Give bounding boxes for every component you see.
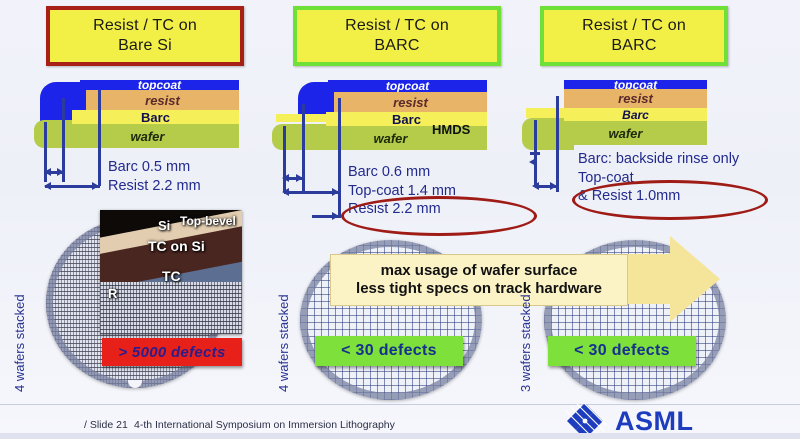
dimension-arrowhead-left bbox=[282, 174, 289, 182]
layer-label-wafer: wafer bbox=[131, 129, 165, 144]
sem-label-tc: TC bbox=[162, 268, 181, 284]
stack-label-column-2: 4 wafers stacked bbox=[276, 294, 291, 392]
hmds-label: HMDS bbox=[432, 122, 470, 137]
dimension-arrowhead-left bbox=[529, 158, 536, 166]
layer-label-wafer: wafer bbox=[374, 131, 408, 146]
dimension-arrowhead-right bbox=[332, 212, 339, 220]
defect-badge-label: < 30 defects bbox=[341, 342, 437, 360]
stack-label-column-1: 4 wafers stacked bbox=[12, 294, 27, 392]
defect-badge-column-3: < 30 defects bbox=[548, 336, 696, 366]
dimension-line-vertical bbox=[98, 90, 101, 186]
dimension-arrowhead-right bbox=[296, 174, 303, 182]
asml-wordmark: ASML bbox=[615, 406, 694, 437]
dimension-arrowhead-right bbox=[92, 182, 99, 190]
dimension-line-vertical bbox=[338, 98, 341, 218]
layer-resist: resist bbox=[334, 92, 487, 112]
title-line-2: Bare Si bbox=[93, 36, 197, 56]
sem-cross-section-inset: Si Top-bevel TC on Si TC R bbox=[100, 210, 242, 334]
arrow-head bbox=[670, 236, 720, 322]
layer-label-topcoat: topcoat bbox=[386, 79, 429, 93]
dimension-caption-column-3: Barc: backside rinse only Top-coat & Res… bbox=[578, 150, 739, 206]
layer-topcoat: topcoat bbox=[564, 80, 707, 89]
dimension-line-vertical bbox=[556, 96, 559, 192]
dimension-arrowhead-right bbox=[57, 168, 64, 176]
layer-topcoat: topcoat bbox=[328, 80, 487, 92]
dimension-arrow-small bbox=[530, 152, 540, 155]
dimension-arrowhead-right bbox=[332, 188, 339, 196]
layer-barc: Barc bbox=[564, 108, 707, 121]
defect-badge-column-2: < 30 defects bbox=[315, 336, 463, 366]
title-line-2: BARC bbox=[345, 36, 449, 56]
dimension-line-3: Resist 2.2 mm bbox=[348, 200, 456, 219]
layer-label-barc: Barc bbox=[392, 112, 421, 127]
title-box-column-1: Resist / TC on Bare Si bbox=[46, 6, 244, 66]
dimension-line-vertical bbox=[283, 126, 286, 192]
dimension-line-2: Top-coat bbox=[578, 169, 739, 188]
sem-label-tc-on-si: TC on Si bbox=[148, 238, 205, 254]
arrow-banner-text: max usage of wafer surface less tight sp… bbox=[330, 254, 628, 306]
title-line-2: BARC bbox=[582, 36, 686, 56]
dimension-arrowhead-left bbox=[44, 168, 51, 176]
layer-label-resist: resist bbox=[145, 93, 180, 108]
dimension-arrowhead-left bbox=[44, 182, 51, 190]
dimension-arrowhead-left bbox=[532, 182, 539, 190]
layer-label-barc: Barc bbox=[622, 108, 649, 122]
dimension-arrowhead-right bbox=[550, 182, 557, 190]
layer-label-wafer: wafer bbox=[609, 126, 643, 141]
dimension-line-1: Barc: backside rinse only bbox=[578, 150, 739, 169]
sem-bottom-texture bbox=[100, 282, 242, 334]
banner-line-1: max usage of wafer surface bbox=[381, 262, 578, 280]
defect-badge-label: > 5000 defects bbox=[118, 344, 225, 361]
defect-badge-column-1: > 5000 defects bbox=[102, 338, 242, 366]
footer-event-title: 4-th International Symposium on Immersio… bbox=[134, 419, 395, 431]
sem-label-r: R bbox=[108, 286, 117, 301]
title-box-column-2: Resist / TC on BARC bbox=[293, 6, 501, 66]
layer-wafer: wafer bbox=[544, 121, 707, 145]
defect-badge-label: < 30 defects bbox=[574, 342, 670, 360]
bottom-band bbox=[0, 433, 800, 439]
layer-stack-diagram-3: topcoat resist Barc wafer bbox=[522, 80, 707, 150]
dimension-line-3: & Resist 1.0mm bbox=[578, 187, 739, 206]
layer-label-resist: resist bbox=[393, 95, 428, 110]
dimension-line-1: Barc 0.6 mm bbox=[348, 163, 456, 182]
layer-label-resist: resist bbox=[618, 91, 653, 106]
layer-wafer: wafer bbox=[56, 124, 239, 148]
layer-resist: resist bbox=[86, 90, 239, 110]
stack-label-column-3: 3 wafers stacked bbox=[518, 294, 533, 392]
title-line-1: Resist / TC on bbox=[582, 16, 686, 36]
layer-label-barc: Barc bbox=[141, 110, 170, 125]
title-line-1: Resist / TC on bbox=[93, 16, 197, 36]
banner-line-2: less tight specs on track hardware bbox=[356, 280, 602, 298]
layer-topcoat: topcoat bbox=[80, 80, 239, 90]
slide-canvas: Resist / TC on Bare Si Resist / TC on BA… bbox=[0, 0, 800, 439]
footer-slide-number: / Slide 21 bbox=[84, 419, 128, 431]
sem-label-top-bevel: Top-bevel bbox=[180, 214, 236, 228]
dimension-line-2: Top-coat 1.4 mm bbox=[348, 182, 456, 201]
dimension-arrowhead-left bbox=[282, 188, 289, 196]
dimension-line-2: Resist 2.2 mm bbox=[108, 177, 201, 196]
layer-resist: resist bbox=[564, 89, 707, 108]
sem-label-si: Si bbox=[158, 218, 170, 233]
title-line-1: Resist / TC on bbox=[345, 16, 449, 36]
dimension-caption-column-1: Barc 0.5 mm Resist 2.2 mm bbox=[108, 158, 201, 195]
title-box-column-3: Resist / TC on BARC bbox=[540, 6, 728, 66]
dimension-line-1: Barc 0.5 mm bbox=[108, 158, 201, 177]
dimension-caption-column-2: Barc 0.6 mm Top-coat 1.4 mm Resist 2.2 m… bbox=[348, 163, 456, 219]
